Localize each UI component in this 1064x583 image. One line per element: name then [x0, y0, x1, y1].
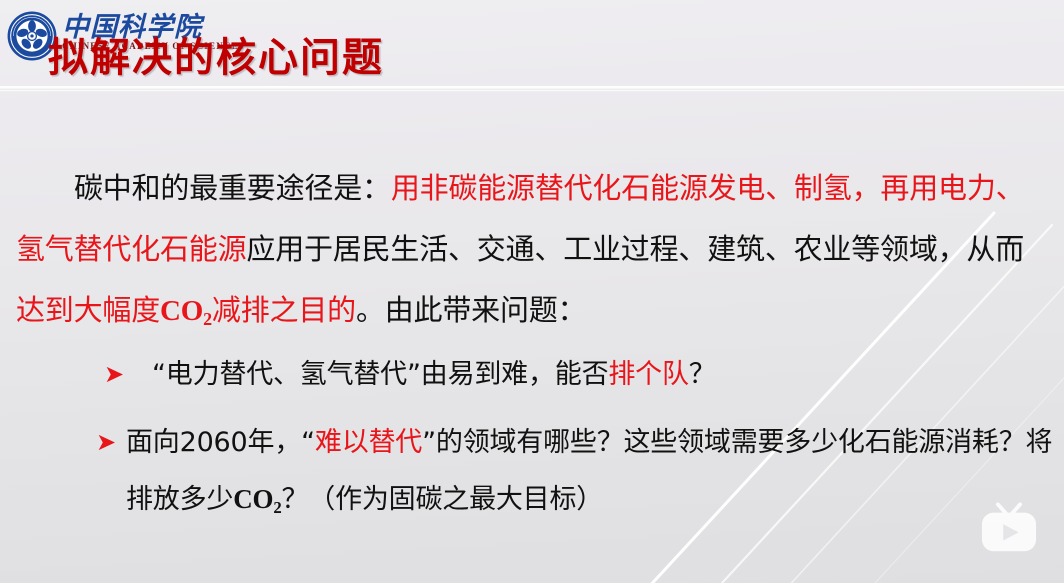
bullet-1-run-black-2: ？ — [689, 359, 716, 390]
bullet-2-run-black-3: ？（作为固碳之最大目标） — [281, 484, 603, 515]
slide-header: 中国科学院 CHINESE ACADEMY OF SCIENCES 拟解决的核心… — [0, 0, 1064, 90]
para-run-black-2: 应用于居民生活、交通、工业过程、建 — [246, 232, 736, 266]
bullet-2-run-red: 难以替代 — [315, 427, 422, 458]
main-paragraph: 碳中和的最重要途径是：用非碳能源替代化石能源发电、制氢，再用电力、氢气替代化石能… — [16, 158, 1052, 345]
page-title: 拟解决的核心问题 — [48, 36, 384, 80]
bullet-list: ➤ “电力替代、氢气替代”由易到难，能否排个队？ ➤ 面向2060年，“难以替代… — [16, 346, 1056, 531]
list-item: ➤ “电力替代、氢气替代”由易到难，能否排个队？ — [16, 346, 1056, 403]
para-run-red-4: 减排之目的 — [212, 293, 356, 327]
co2-formula: CO2 — [233, 484, 281, 514]
para-run-black-4: 。由此带来问题： — [356, 293, 586, 327]
main-paragraph-block: 碳中和的最重要途径是：用非碳能源替代化石能源发电、制氢，再用电力、氢气替代化石能… — [16, 158, 1052, 345]
bullet-1-run-red: 排个队 — [608, 359, 688, 390]
arrow-bullet-icon: ➤ — [104, 346, 124, 403]
bullet-1-run-black-1: “电力替代、氢气替代”由易到难，能否 — [152, 359, 608, 390]
para-run-red-3: 达到大幅度 — [16, 293, 160, 327]
list-item: ➤ 面向2060年，“难以替代”的领域有哪些？这些领域需要多少化石能源消耗？将排… — [16, 414, 1056, 531]
bullet-2-run-black-1: 面向2060年，“ — [126, 427, 315, 458]
slide-canvas: 中国科学院 CHINESE ACADEMY OF SCIENCES 拟解决的核心… — [0, 0, 1064, 583]
para-run-black-3: 筑、农业等领域，从而 — [736, 232, 1024, 266]
co2-base: CO — [160, 295, 203, 327]
header-divider — [0, 86, 1064, 90]
bullet-2-text: 面向2060年，“难以替代”的领域有哪些？这些领域需要多少化石能源消耗？将排放多… — [126, 414, 1056, 531]
para-run-red-1: 用非碳能源替代化石能源发电、制氢， — [391, 171, 881, 205]
bilibili-tv-play-icon — [978, 501, 1040, 557]
co2-formula: CO2 — [160, 295, 212, 327]
arrow-bullet-icon: ➤ — [96, 414, 116, 471]
co2-base: CO — [233, 484, 273, 514]
bullet-1-text: “电力替代、氢气替代”由易到难，能否排个队？ — [152, 346, 1056, 403]
co2-subscript: 2 — [273, 498, 281, 517]
co2-subscript: 2 — [203, 309, 212, 329]
para-run-black-1: 碳中和的最重要途径是： — [74, 171, 391, 205]
